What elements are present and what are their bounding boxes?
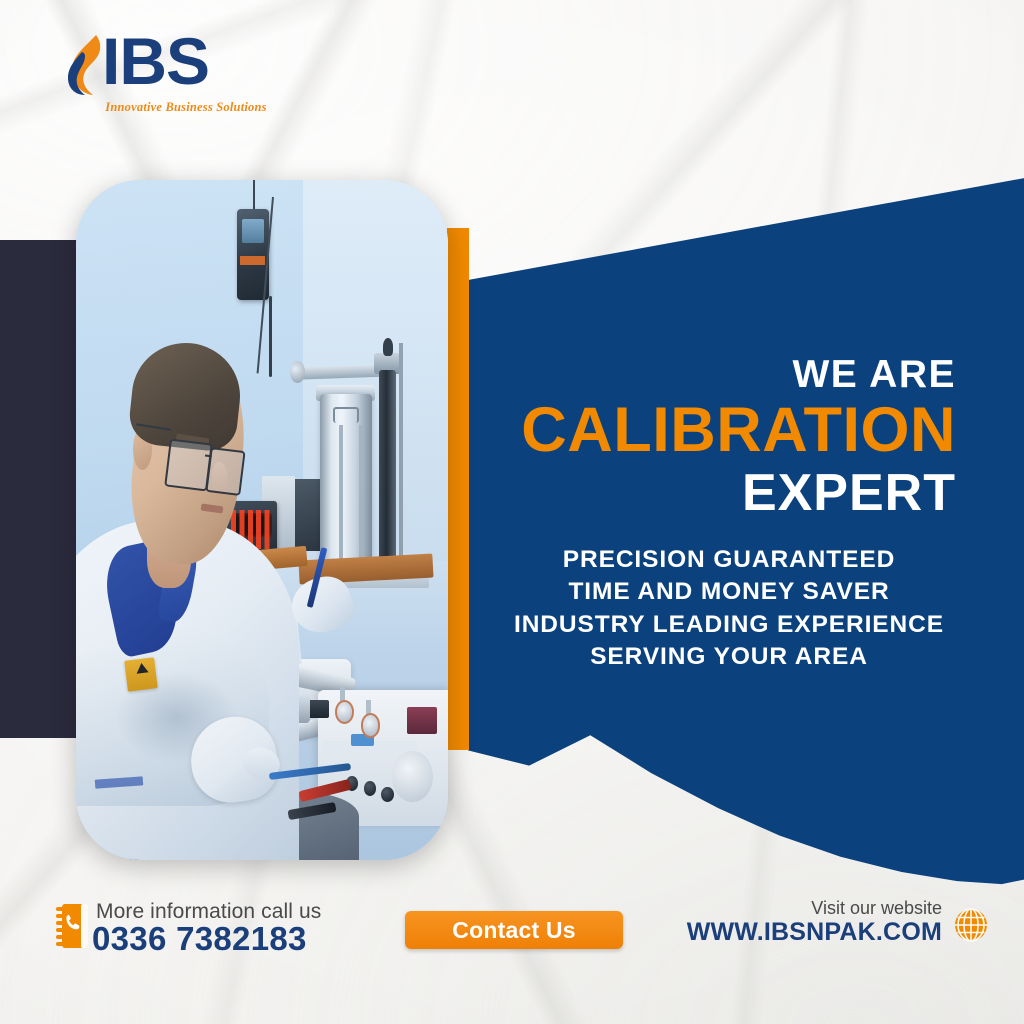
- photo-color-tint: [76, 180, 448, 860]
- logo-wordmark: IBS: [102, 28, 209, 94]
- poster-canvas: IBS Innovative Business Solutions: [0, 0, 1024, 1024]
- logo-tagline: Innovative Business Solutions: [70, 100, 302, 115]
- calibration-lab-photo: [76, 180, 448, 860]
- benefit-item: INDUSTRY LEADING EXPERIENCE: [496, 609, 962, 641]
- benefit-item: PRECISION GUARANTEED: [496, 544, 962, 576]
- panel-orange-stripe: [447, 228, 469, 750]
- phone-number[interactable]: 0336 7382183: [92, 920, 307, 958]
- benefit-item: SERVING YOUR AREA: [496, 641, 962, 673]
- phone-book-icon: [56, 904, 88, 948]
- globe-icon: [950, 904, 992, 946]
- hero-photo-card: [76, 180, 448, 860]
- contact-us-button[interactable]: Contact Us: [405, 911, 623, 949]
- headline-primary: CALIBRATION: [486, 396, 956, 464]
- phone-contact-block[interactable]: More information call us 0336 7382183: [56, 900, 386, 958]
- headline-secondary: EXPERT: [486, 466, 956, 521]
- website-block[interactable]: Visit our website WWW.IBSNPAK.COM: [668, 898, 998, 958]
- benefit-item: TIME AND MONEY SAVER: [496, 576, 962, 608]
- headline-eyebrow: WE ARE: [486, 355, 956, 394]
- headline-block: WE ARE CALIBRATION EXPERT: [486, 355, 956, 521]
- benefits-list: PRECISION GUARANTEED TIME AND MONEY SAVE…: [496, 544, 962, 673]
- brand-logo[interactable]: IBS Innovative Business Solutions: [66, 28, 306, 120]
- website-label: Visit our website: [811, 898, 942, 919]
- website-url[interactable]: WWW.IBSNPAK.COM: [687, 918, 942, 947]
